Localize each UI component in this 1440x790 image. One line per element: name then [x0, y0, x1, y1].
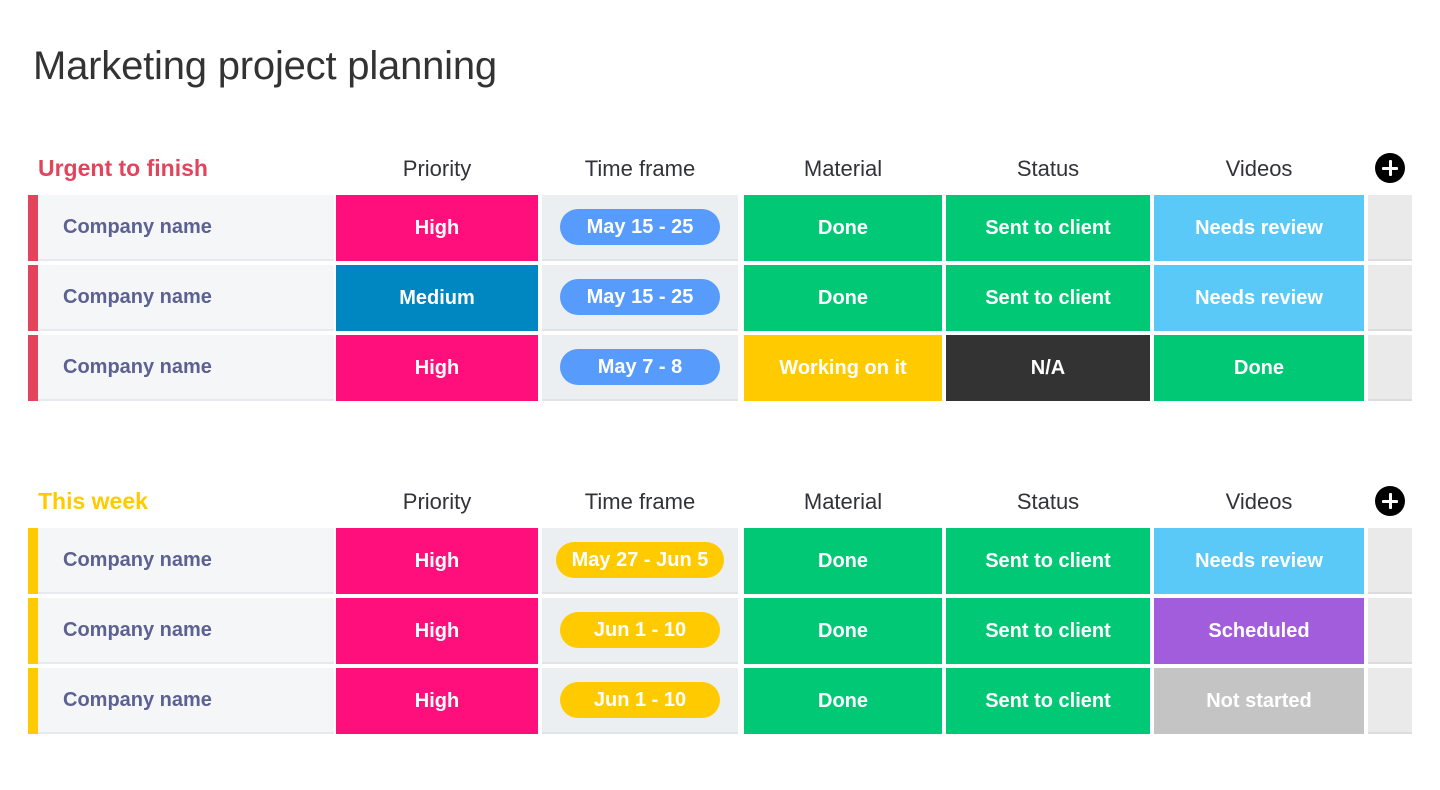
cell-time-frame[interactable]: Jun 1 - 10: [542, 598, 738, 664]
time-frame-pill: May 15 - 25: [560, 279, 720, 315]
cell-videos[interactable]: Needs review: [1154, 195, 1364, 261]
cell-status[interactable]: Sent to client: [946, 598, 1150, 664]
cell-status[interactable]: Sent to client: [946, 528, 1150, 594]
row-color-bar: [28, 195, 38, 261]
row-color-bar: [28, 528, 38, 594]
cell-time-frame[interactable]: May 27 - Jun 5: [542, 528, 738, 594]
table-row: Company name Medium May 15 - 25 Done Sen…: [0, 265, 1440, 331]
cell-priority[interactable]: High: [336, 598, 538, 664]
cell-videos[interactable]: Done: [1154, 335, 1364, 401]
cell-time-frame[interactable]: Jun 1 - 10: [542, 668, 738, 734]
cell-time-frame[interactable]: May 15 - 25: [542, 265, 738, 331]
cell-time-frame[interactable]: May 7 - 8: [542, 335, 738, 401]
time-frame-pill: May 7 - 8: [560, 349, 720, 385]
cell-priority[interactable]: High: [336, 668, 538, 734]
cell-empty-trailing[interactable]: [1368, 598, 1412, 664]
cell-material[interactable]: Done: [744, 528, 942, 594]
cell-material[interactable]: Done: [744, 195, 942, 261]
cell-priority[interactable]: High: [336, 528, 538, 594]
cell-status[interactable]: Sent to client: [946, 265, 1150, 331]
group-header-row: Urgent to finish Priority Time frame Mat…: [0, 143, 1440, 195]
column-header-status[interactable]: Status: [946, 154, 1150, 183]
table-row: Company name High May 27 - Jun 5 Done Se…: [0, 528, 1440, 594]
row-color-bar: [28, 265, 38, 331]
column-header-material[interactable]: Material: [744, 487, 942, 516]
cell-videos[interactable]: Not started: [1154, 668, 1364, 734]
cell-videos[interactable]: Scheduled: [1154, 598, 1364, 664]
cell-empty-trailing[interactable]: [1368, 265, 1412, 331]
cell-company-name[interactable]: Company name: [38, 528, 334, 594]
cell-status[interactable]: N/A: [946, 335, 1150, 401]
cell-material[interactable]: Working on it: [744, 335, 942, 401]
column-header-material[interactable]: Material: [744, 154, 942, 183]
cell-empty-trailing[interactable]: [1368, 528, 1412, 594]
cell-status[interactable]: Sent to client: [946, 668, 1150, 734]
group-rows: Company name High May 27 - Jun 5 Done Se…: [0, 528, 1440, 734]
column-header-time-frame[interactable]: Time frame: [542, 487, 738, 516]
cell-videos[interactable]: Needs review: [1154, 265, 1364, 331]
cell-videos[interactable]: Needs review: [1154, 528, 1364, 594]
time-frame-pill: May 15 - 25: [560, 209, 720, 245]
column-header-videos[interactable]: Videos: [1154, 487, 1364, 516]
cell-empty-trailing[interactable]: [1368, 668, 1412, 734]
table-row: Company name High Jun 1 - 10 Done Sent t…: [0, 668, 1440, 734]
column-header-priority[interactable]: Priority: [336, 487, 538, 516]
cell-status[interactable]: Sent to client: [946, 195, 1150, 261]
cell-priority[interactable]: High: [336, 195, 538, 261]
add-column-icon[interactable]: [1375, 153, 1405, 183]
cell-company-name[interactable]: Company name: [38, 668, 334, 734]
group-header-row: This week Priority Time frame Material S…: [0, 476, 1440, 528]
cell-material[interactable]: Done: [744, 668, 942, 734]
group-rows: Company name High May 15 - 25 Done Sent …: [0, 195, 1440, 401]
cell-priority[interactable]: Medium: [336, 265, 538, 331]
table-row: Company name High Jun 1 - 10 Done Sent t…: [0, 598, 1440, 664]
cell-material[interactable]: Done: [744, 598, 942, 664]
cell-company-name[interactable]: Company name: [38, 335, 334, 401]
time-frame-pill: May 27 - Jun 5: [556, 542, 725, 578]
time-frame-pill: Jun 1 - 10: [560, 682, 720, 718]
cell-priority[interactable]: High: [336, 335, 538, 401]
cell-company-name[interactable]: Company name: [38, 598, 334, 664]
group-this-week: This week Priority Time frame Material S…: [0, 476, 1440, 738]
group-title[interactable]: This week: [38, 486, 148, 516]
row-color-bar: [28, 598, 38, 664]
page-title: Marketing project planning: [33, 42, 497, 90]
column-header-time-frame[interactable]: Time frame: [542, 154, 738, 183]
column-header-videos[interactable]: Videos: [1154, 154, 1364, 183]
cell-empty-trailing[interactable]: [1368, 335, 1412, 401]
column-header-status[interactable]: Status: [946, 487, 1150, 516]
cell-material[interactable]: Done: [744, 265, 942, 331]
row-color-bar: [28, 335, 38, 401]
table-row: Company name High May 15 - 25 Done Sent …: [0, 195, 1440, 261]
group-urgent-to-finish: Urgent to finish Priority Time frame Mat…: [0, 143, 1440, 405]
group-title[interactable]: Urgent to finish: [38, 153, 208, 183]
column-header-priority[interactable]: Priority: [336, 154, 538, 183]
cell-time-frame[interactable]: May 15 - 25: [542, 195, 738, 261]
row-color-bar: [28, 668, 38, 734]
project-board: Marketing project planning Urgent to fin…: [0, 0, 1440, 790]
time-frame-pill: Jun 1 - 10: [560, 612, 720, 648]
cell-company-name[interactable]: Company name: [38, 265, 334, 331]
cell-company-name[interactable]: Company name: [38, 195, 334, 261]
cell-empty-trailing[interactable]: [1368, 195, 1412, 261]
add-column-icon[interactable]: [1375, 486, 1405, 516]
table-row: Company name High May 7 - 8 Working on i…: [0, 335, 1440, 401]
